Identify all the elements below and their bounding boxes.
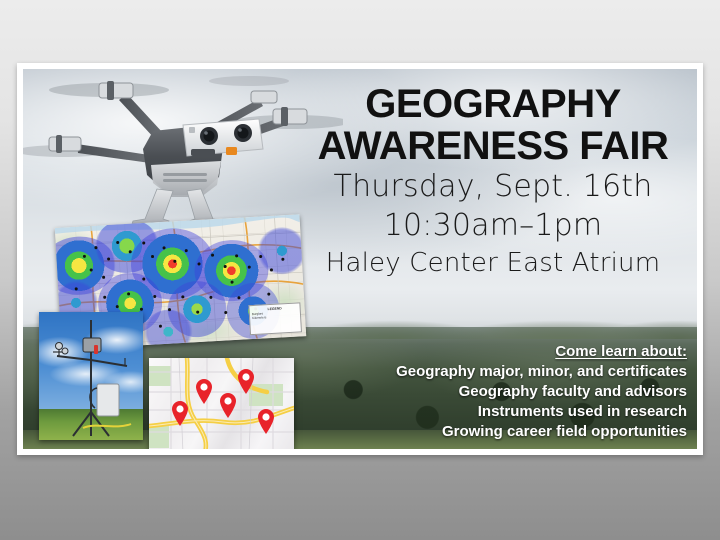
- headline-line-1: GEOGRAPHY: [299, 83, 687, 125]
- event-text-column: GEOGRAPHY AWARENESS FAIR Thursday, Sept.…: [299, 83, 687, 281]
- event-date: Thursday, Sept. 16th: [299, 167, 687, 206]
- event-time: 10:30am–1pm: [299, 206, 687, 245]
- heatmap-legend: LEGEND Burglars Kilometers: [248, 302, 302, 335]
- learn-about-item: Instruments used in research: [327, 402, 687, 422]
- event-venue: Haley Center East Atrium: [299, 245, 687, 281]
- map-pin-icon: [219, 392, 237, 418]
- learn-about-block: Come learn about: Geography major, minor…: [327, 342, 687, 442]
- slide-frame: LEGEND Burglars Kilometers: [17, 63, 703, 455]
- drone-camera-pod: [183, 119, 263, 156]
- learn-about-item: Geography faculty and advisors: [327, 382, 687, 402]
- map-pin-icon: [195, 378, 213, 404]
- map-pin-icon: [257, 408, 275, 434]
- map-pin-icon: [237, 368, 255, 394]
- learn-about-item: Growing career field opportunities: [327, 422, 687, 442]
- learn-about-item: Geography major, minor, and certificates: [327, 362, 687, 382]
- headline-line-2: AWARENESS FAIR: [299, 125, 687, 167]
- weather-station-photo: [39, 312, 143, 440]
- map-with-location-pins: [149, 358, 294, 449]
- learn-about-heading: Come learn about:: [327, 342, 687, 362]
- weather-tower-illustration: [39, 312, 143, 440]
- slide-canvas: LEGEND Burglars Kilometers: [23, 69, 697, 449]
- map-pin-icon: [171, 400, 189, 426]
